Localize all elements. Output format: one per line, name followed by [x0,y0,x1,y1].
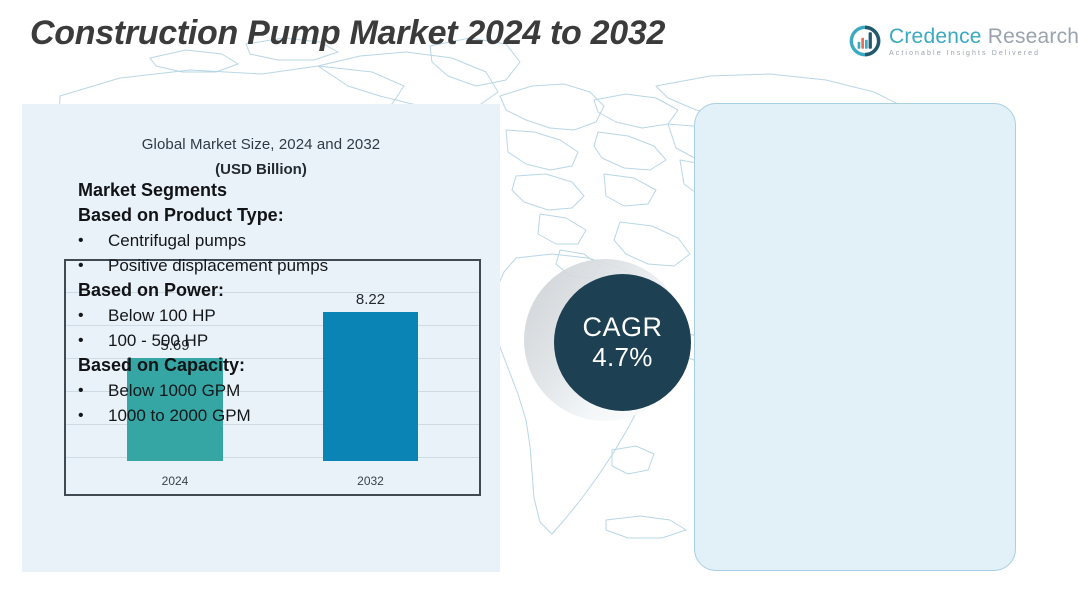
bullet-icon: • [78,328,108,353]
bullet-icon: • [78,303,108,328]
category-label-2032: 2032 [323,474,418,488]
segment-item-label: Below 100 HP [108,303,348,328]
segment-item-below-1000-gpm: • Below 1000 GPM [78,378,348,403]
chart-subheading: (USD Billion) [22,161,500,178]
logo-name-primary: Credence [889,25,982,48]
segment-group-heading-product-type: Based on Product Type: [78,203,348,228]
segment-item-label: 1000 to 2000 GPM [108,403,348,428]
segment-item-1000-2000-gpm: • 1000 to 2000 GPM [78,403,348,428]
segment-item-label: 100 - 500 HP [108,328,348,353]
market-segments-panel [694,103,1016,571]
cagr-badge: CAGR 4.7% [554,274,691,411]
market-segments-list: Market Segments Based on Product Type: •… [78,178,348,428]
bullet-icon: • [78,228,108,253]
segment-item-label: Centrifugal pumps [108,228,348,253]
infographic-canvas: Construction Pump Market 2024 to 2032 Cr… [0,0,1078,593]
logo-name-secondary: Research [988,25,1078,48]
segment-item-label: Positive displacement pumps [108,253,348,278]
bar-chart-circle-icon [848,24,882,58]
brand-logo[interactable]: Credence Research Actionable Insights De… [848,19,1048,63]
chart-heading: Global Market Size, 2024 and 2032 [22,136,500,153]
segment-item-label: Below 1000 GPM [108,378,348,403]
segment-item-centrifugal-pumps: • Centrifugal pumps [78,228,348,253]
segment-item-100-500-hp: • 100 - 500 HP [78,328,348,353]
logo-tagline: Actionable Insights Delivered [889,50,1078,57]
segment-group-heading-capacity: Based on Capacity: [78,353,348,378]
bullet-icon: • [78,378,108,403]
segment-item-below-100-hp: • Below 100 HP [78,303,348,328]
segments-title: Market Segments [78,178,348,203]
logo-wordmark: Credence Research Actionable Insights De… [889,26,1078,57]
cagr-label: CAGR [582,313,662,341]
segment-item-positive-displacement-pumps: • Positive displacement pumps [78,253,348,278]
segment-group-heading-power: Based on Power: [78,278,348,303]
bullet-icon: • [78,253,108,278]
cagr-value: 4.7% [592,343,652,372]
bullet-icon: • [78,403,108,428]
category-label-2024: 2024 [127,474,223,488]
page-title: Construction Pump Market 2024 to 2032 [30,14,665,53]
